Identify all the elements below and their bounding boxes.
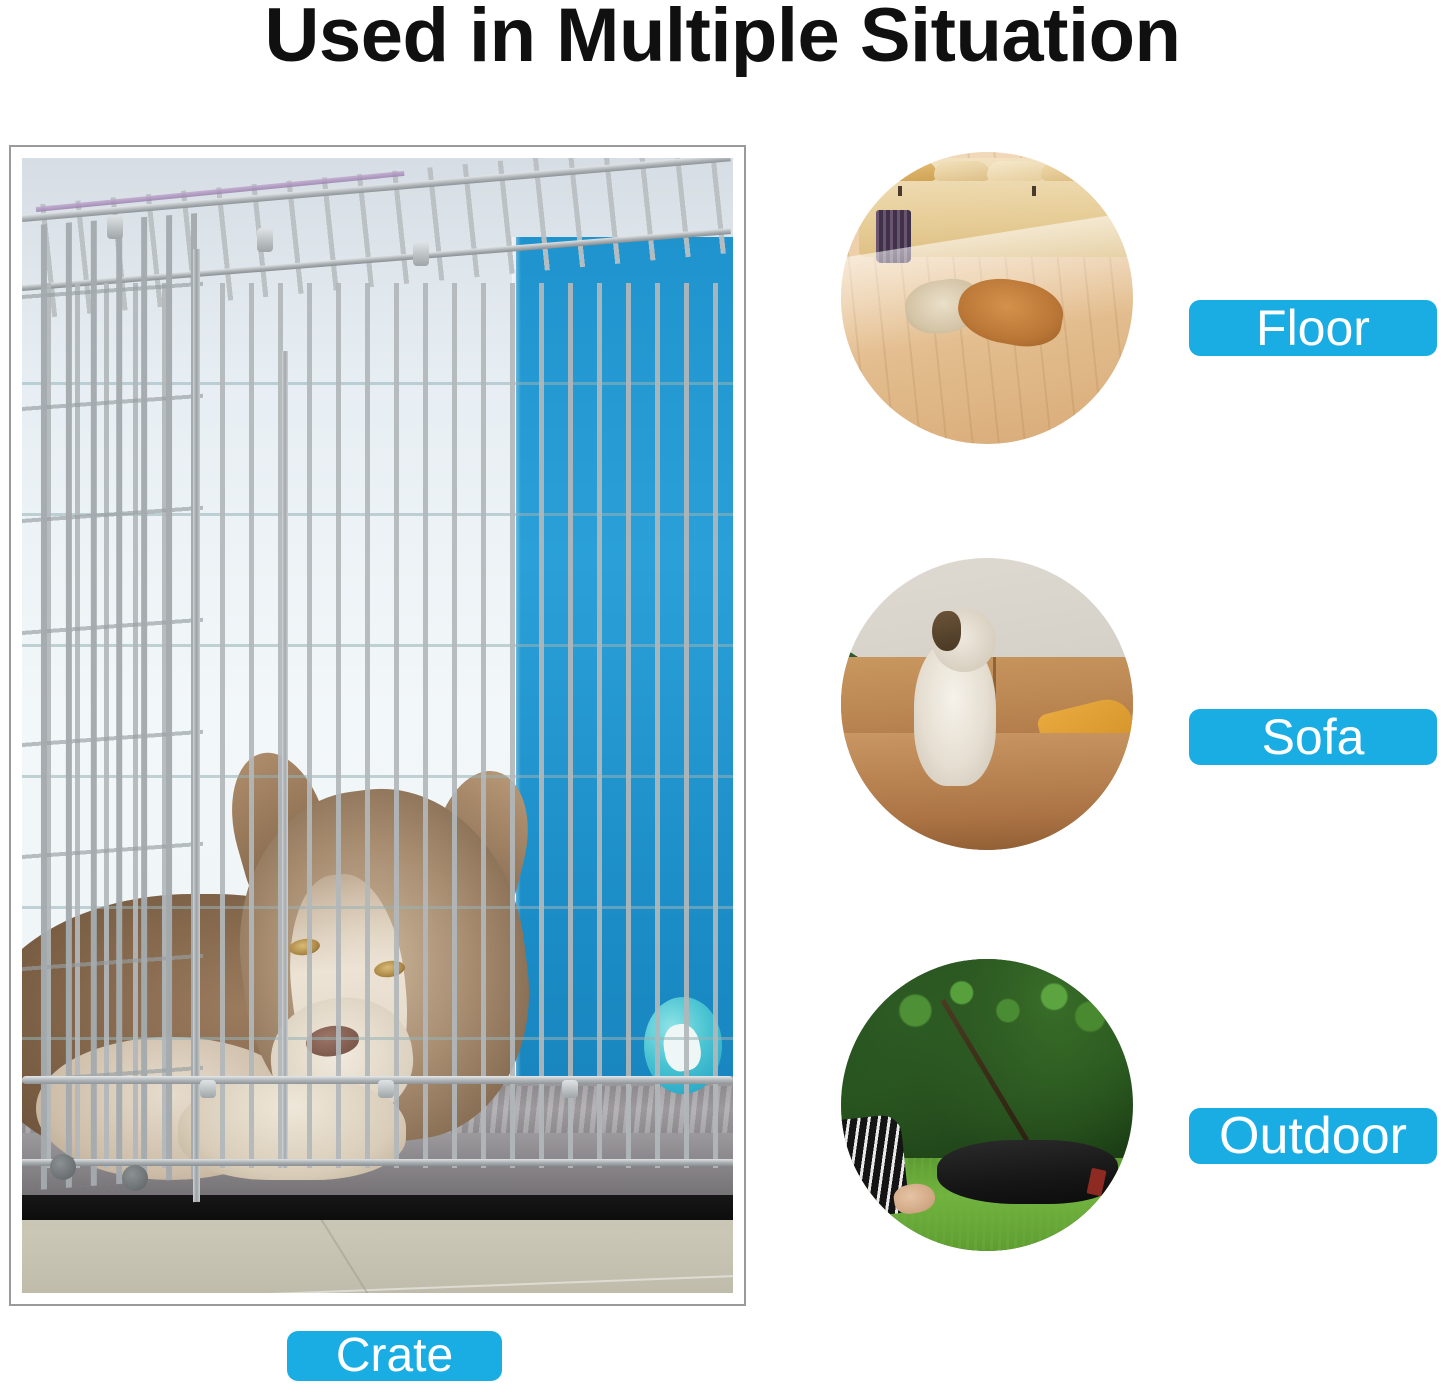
sofa-leg	[1105, 186, 1109, 196]
dog-in-crate	[22, 703, 733, 1180]
scene-image-floor	[841, 152, 1133, 444]
page-title: Used in Multiple Situation	[0, 0, 1445, 74]
sofa-leg	[1032, 186, 1036, 196]
sofa-leg	[898, 186, 902, 196]
crate-photo-frame	[9, 145, 746, 1306]
dog-ear	[932, 611, 961, 652]
leafy-branch-foliage	[864, 971, 1121, 1070]
sofa-cushion	[1041, 161, 1103, 181]
floor-tile-seam-2	[316, 1211, 404, 1293]
floor-tile-seam	[221, 1276, 733, 1293]
scene-image-outdoor	[841, 959, 1133, 1251]
badge-sofa: Sofa	[1189, 709, 1437, 765]
badge-outdoor: Outdoor	[1189, 1108, 1437, 1164]
scene-image-sofa	[841, 558, 1133, 850]
sofa-cushion	[881, 161, 937, 181]
badge-floor: Floor	[1189, 300, 1437, 356]
badge-crate: Crate	[287, 1331, 502, 1381]
sofa-cushion	[987, 161, 1043, 181]
sofa-cushion	[934, 161, 990, 181]
dog-chest	[178, 1075, 406, 1180]
crate-photo	[22, 158, 733, 1293]
